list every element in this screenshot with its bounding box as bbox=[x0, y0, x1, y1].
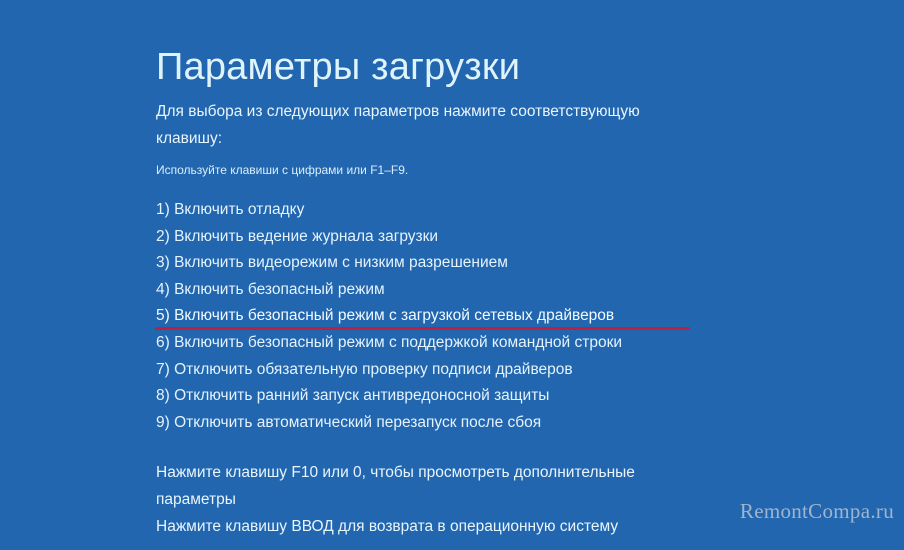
boot-option-3[interactable]: 3) Включить видеорежим с низким разрешен… bbox=[156, 250, 756, 277]
site-watermark: RemontCompa.ru bbox=[740, 499, 894, 524]
boot-option-label: 2) Включить ведение журнала загрузки bbox=[156, 228, 438, 245]
footer-more-options-text: Нажмите клавишу F10 или 0, чтобы просмот… bbox=[156, 459, 686, 513]
boot-option-8[interactable]: 8) Отключить ранний запуск антивредоносн… bbox=[156, 383, 756, 410]
footer-return-os-text: Нажмите клавишу ВВОД для возврата в опер… bbox=[156, 513, 756, 540]
boot-options-list: 1) Включить отладку 2) Включить ведение … bbox=[156, 197, 756, 436]
boot-option-label: 1) Включить отладку bbox=[156, 201, 304, 218]
boot-option-label: 7) Отключить обязательную проверку подпи… bbox=[156, 361, 573, 378]
boot-option-5[interactable]: 5) Включить безопасный режим с загрузкой… bbox=[156, 303, 756, 330]
boot-option-4[interactable]: 4) Включить безопасный режим bbox=[156, 277, 756, 304]
boot-option-7[interactable]: 7) Отключить обязательную проверку подпи… bbox=[156, 357, 756, 384]
boot-option-label: 3) Включить видеорежим с низким разрешен… bbox=[156, 254, 508, 271]
footer-instructions: Нажмите клавишу F10 или 0, чтобы просмот… bbox=[156, 459, 686, 540]
boot-option-2[interactable]: 2) Включить ведение журнала загрузки bbox=[156, 224, 756, 251]
boot-option-label: 6) Включить безопасный режим с поддержко… bbox=[156, 334, 622, 351]
boot-option-1[interactable]: 1) Включить отладку bbox=[156, 197, 756, 224]
boot-option-label: 4) Включить безопасный режим bbox=[156, 281, 385, 298]
keyboard-hint-text: Используйте клавиши с цифрами или F1–F9. bbox=[156, 160, 408, 180]
content-column: Параметры загрузки Для выбора из следующ… bbox=[156, 0, 876, 550]
page-title: Параметры загрузки bbox=[156, 43, 520, 91]
intro-instruction-text: Для выбора из следующих параметров нажми… bbox=[156, 98, 701, 152]
boot-option-label: 5) Включить безопасный режим с загрузкой… bbox=[156, 307, 614, 324]
boot-option-9[interactable]: 9) Отключить автоматический перезапуск п… bbox=[156, 410, 756, 437]
boot-option-label: 8) Отключить ранний запуск антивредоносн… bbox=[156, 387, 549, 404]
boot-options-screen: Параметры загрузки Для выбора из следующ… bbox=[0, 0, 904, 550]
boot-option-label: 9) Отключить автоматический перезапуск п… bbox=[156, 414, 541, 431]
boot-option-6[interactable]: 6) Включить безопасный режим с поддержко… bbox=[156, 330, 756, 357]
